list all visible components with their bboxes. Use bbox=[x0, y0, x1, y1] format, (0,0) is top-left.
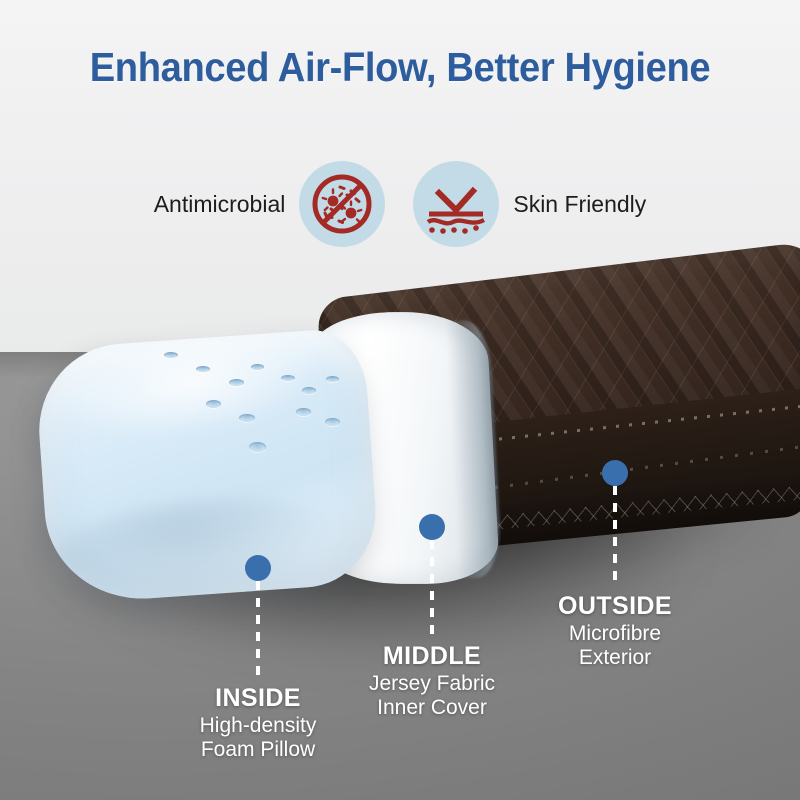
callout-text-middle: MIDDLE Jersey Fabric Inner Cover bbox=[332, 642, 532, 721]
airflow-hole bbox=[196, 366, 210, 372]
airflow-hole bbox=[302, 387, 316, 394]
badge-skin-friendly-label: Skin Friendly bbox=[513, 191, 646, 218]
no-germs-icon bbox=[299, 161, 385, 247]
callout-sub-inside-1: High-density bbox=[158, 714, 358, 739]
airflow-hole bbox=[164, 352, 178, 358]
airflow-hole bbox=[239, 414, 255, 422]
skin-check-icon bbox=[413, 161, 499, 247]
callout-line-inside bbox=[256, 581, 260, 677]
infographic-canvas: Enhanced Air-Flow, Better Hygiene Antimi… bbox=[0, 0, 800, 800]
callout-line-outside bbox=[613, 486, 617, 586]
callout-sub-inside-2: Foam Pillow bbox=[158, 738, 358, 763]
callout-sub-middle-1: Jersey Fabric bbox=[332, 672, 532, 697]
feature-badge-row: Antimicrobial bbox=[0, 152, 800, 256]
airflow-hole bbox=[326, 376, 339, 382]
callout-title-inside: INSIDE bbox=[158, 684, 358, 714]
callout-title-middle: MIDDLE bbox=[332, 642, 532, 672]
callout-text-outside: OUTSIDE Microfibre Exterior bbox=[515, 592, 715, 671]
callout-dot-middle[interactable] bbox=[419, 514, 445, 540]
callout-line-middle bbox=[430, 540, 434, 636]
airflow-hole bbox=[206, 400, 221, 408]
airflow-hole bbox=[251, 364, 264, 370]
callout-title-outside: OUTSIDE bbox=[515, 592, 715, 622]
callout-sub-middle-2: Inner Cover bbox=[332, 696, 532, 721]
callout-dot-outside[interactable] bbox=[602, 460, 628, 486]
badge-skin-friendly: Skin Friendly bbox=[413, 161, 646, 247]
callout-sub-outside-2: Exterior bbox=[515, 646, 715, 671]
airflow-hole bbox=[296, 408, 311, 416]
badge-antimicrobial: Antimicrobial bbox=[154, 161, 386, 247]
airflow-hole bbox=[249, 442, 266, 452]
badge-antimicrobial-label: Antimicrobial bbox=[154, 191, 286, 218]
pillow-illustration bbox=[0, 290, 800, 620]
page-title: Enhanced Air-Flow, Better Hygiene bbox=[28, 44, 772, 91]
callout-dot-inside[interactable] bbox=[245, 555, 271, 581]
callout-sub-outside-1: Microfibre bbox=[515, 622, 715, 647]
airflow-hole bbox=[281, 375, 295, 381]
airflow-hole bbox=[229, 379, 244, 386]
callout-text-inside: INSIDE High-density Foam Pillow bbox=[158, 684, 358, 763]
airflow-hole bbox=[325, 418, 340, 426]
